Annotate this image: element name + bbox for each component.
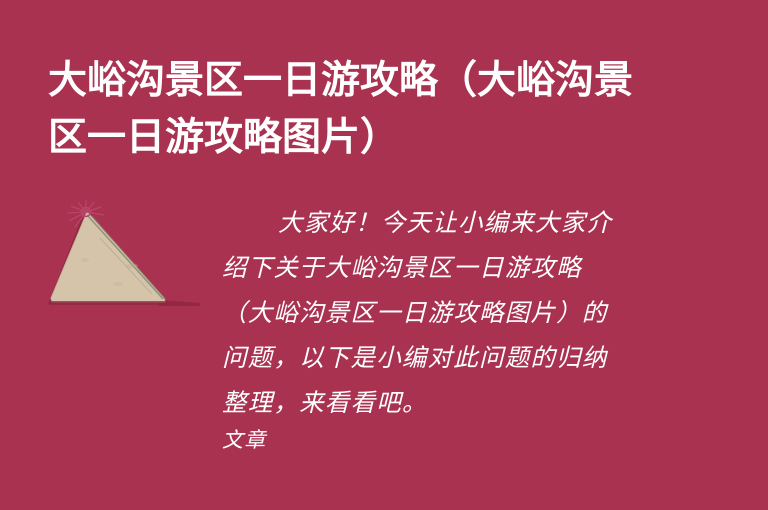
article-tail-label: 文章 [222, 425, 632, 455]
page-title: 大峪沟景区一日游攻略（大峪沟景区一日游攻略图片） [48, 52, 648, 166]
illustration-svg [40, 198, 210, 313]
article-paragraph: 大家好！今天让小编来大家介绍下关于大峪沟景区一日游攻略（大峪沟景区一日游攻略图片… [222, 200, 632, 425]
article-body: 大家好！今天让小编来大家介绍下关于大峪沟景区一日游攻略（大峪沟景区一日游攻略图片… [222, 200, 632, 455]
texture-mark-1 [81, 258, 89, 262]
page-root: 大峪沟景区一日游攻略（大峪沟景区一日游攻略图片） [0, 0, 768, 510]
mountain-sunburst-illustration [40, 198, 210, 313]
mountain-base-line [49, 301, 168, 305]
texture-mark-2 [113, 282, 123, 286]
mountain-shape [51, 212, 165, 302]
texture-mark-3 [126, 264, 138, 269]
